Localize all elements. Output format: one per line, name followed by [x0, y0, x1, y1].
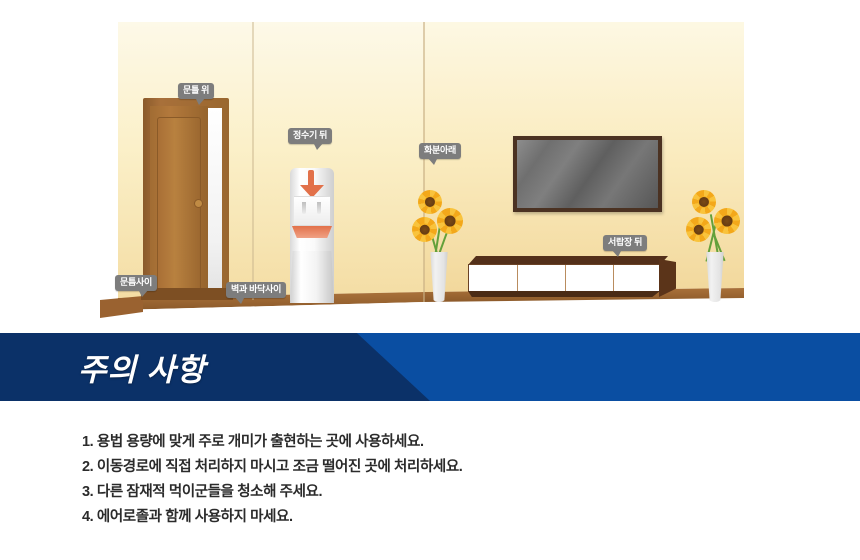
purifier-panel	[294, 196, 330, 226]
callout-tail-icon	[195, 97, 206, 105]
sunflower-icon	[412, 217, 437, 242]
callout-label: 문틀 위	[183, 85, 209, 95]
room-illustration: 문틀 위 정수기 뒤 화분아래 서랍장 뒤 문틈사이 벽과 바닥사이	[0, 0, 860, 325]
cabinet-divider	[517, 265, 518, 291]
cabinet-side	[659, 259, 676, 297]
water-purifier	[288, 168, 336, 303]
callout-pot-under[interactable]: 화분아래	[419, 143, 461, 159]
callout-door-gap[interactable]: 문틈사이	[115, 275, 157, 291]
page-root: 문틀 위 정수기 뒤 화분아래 서랍장 뒤 문틈사이 벽과 바닥사이 주의 사항	[0, 0, 860, 560]
door-knob-icon	[195, 200, 202, 207]
callout-label: 화분아래	[424, 145, 456, 155]
sunflower-vase-right	[684, 190, 746, 302]
notice-item: 3. 다른 잠재적 먹이군들을 청소해 주세요.	[82, 480, 802, 505]
sunflower-icon	[686, 217, 711, 242]
callout-purifier-behind[interactable]: 정수기 뒤	[288, 128, 332, 144]
callout-tail-icon	[234, 296, 245, 304]
callout-tail-icon	[427, 157, 438, 165]
callout-tail-icon	[611, 249, 622, 257]
notice-list: 1. 용법 용량에 맞게 주로 개미가 출현하는 곳에 사용하세요. 2. 이동…	[82, 430, 802, 530]
callout-label: 벽과 바닥사이	[231, 284, 281, 294]
tv-screen	[517, 140, 658, 208]
purifier-band	[292, 226, 332, 238]
notice-item: 2. 이동경로에 직접 처리하지 마시고 조금 떨어진 곳에 처리하세요.	[82, 455, 802, 480]
callout-tail-icon	[138, 289, 149, 297]
section-banner: 주의 사항	[0, 333, 860, 401]
purifier-tap-cold	[302, 202, 306, 214]
callout-drawer-behind[interactable]: 서랍장 뒤	[603, 235, 647, 251]
callout-label: 문틈사이	[120, 277, 152, 287]
cabinet-base	[468, 291, 660, 297]
cabinet-divider	[565, 265, 566, 291]
purifier-tap-hot	[317, 202, 321, 214]
sunflower-icon	[437, 208, 463, 234]
flower-vase	[427, 252, 451, 302]
callout-door-frame-top[interactable]: 문틀 위	[178, 83, 214, 99]
cabinet-drawers	[468, 264, 660, 292]
sunflower-icon	[692, 190, 716, 214]
cabinet-divider	[613, 265, 614, 291]
banner-title: 주의 사항	[78, 345, 206, 390]
callout-label: 서랍장 뒤	[608, 237, 642, 247]
callout-label: 정수기 뒤	[293, 130, 327, 140]
wall-mounted-tv	[513, 136, 662, 212]
banner-dark-wedge	[0, 333, 430, 401]
sunflower-vase-left	[409, 190, 469, 302]
tv-cabinet	[468, 256, 676, 300]
sunflower-icon	[714, 208, 740, 234]
callout-wall-floor-gap[interactable]: 벽과 바닥사이	[226, 282, 286, 298]
notice-item: 4. 에어로졸과 함께 사용하지 마세요.	[82, 505, 802, 530]
notice-item: 1. 용법 용량에 맞게 주로 개미가 출현하는 곳에 사용하세요.	[82, 430, 802, 455]
callout-tail-icon	[313, 142, 324, 150]
